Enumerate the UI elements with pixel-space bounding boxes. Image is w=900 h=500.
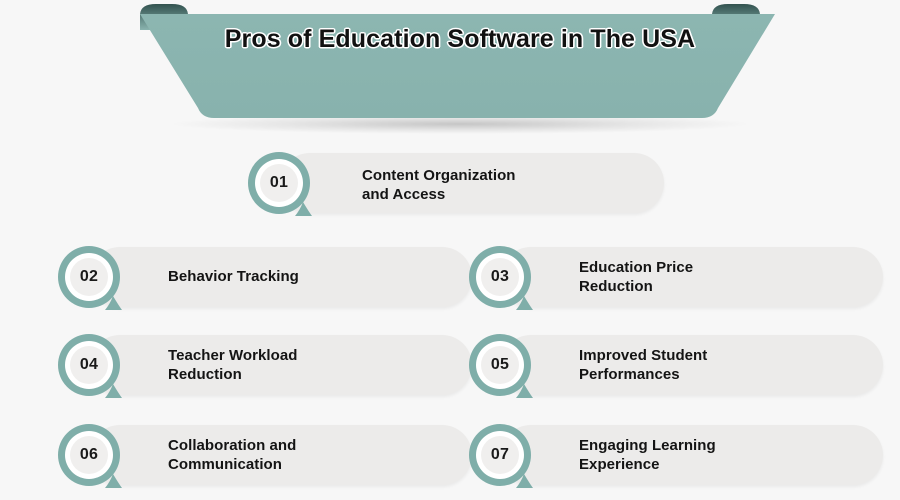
item-number: 03 [467, 244, 533, 310]
item-number-badge: 03 [467, 244, 533, 310]
banner-shape [0, 0, 900, 140]
item-label: Content Organization and Access [362, 166, 612, 204]
item-number: 04 [56, 332, 122, 398]
item-number-badge: 07 [467, 422, 533, 488]
item-number: 06 [56, 422, 122, 488]
item-label: Teacher Workload Reduction [168, 346, 468, 384]
item-number: 05 [467, 332, 533, 398]
page-title: Pros of Education Software in The USA [215, 22, 705, 56]
item-number-badge: 06 [56, 422, 122, 488]
item-number-badge: 04 [56, 332, 122, 398]
item-number-badge: 02 [56, 244, 122, 310]
item-number-badge: 05 [467, 332, 533, 398]
item-number: 01 [246, 150, 312, 216]
item-number: 02 [56, 244, 122, 310]
item-label: Improved Student Performances [579, 346, 879, 384]
item-number-badge: 01 [246, 150, 312, 216]
item-label: Education Price Reduction [579, 258, 879, 296]
title-banner: Pros of Education Software in The USA [0, 0, 900, 140]
item-label: Behavior Tracking [168, 267, 468, 286]
item-label: Engaging Learning Experience [579, 436, 879, 474]
item-number: 07 [467, 422, 533, 488]
item-label: Collaboration and Communication [168, 436, 468, 474]
infographic-root: Pros of Education Software in The USA 01… [0, 0, 900, 500]
